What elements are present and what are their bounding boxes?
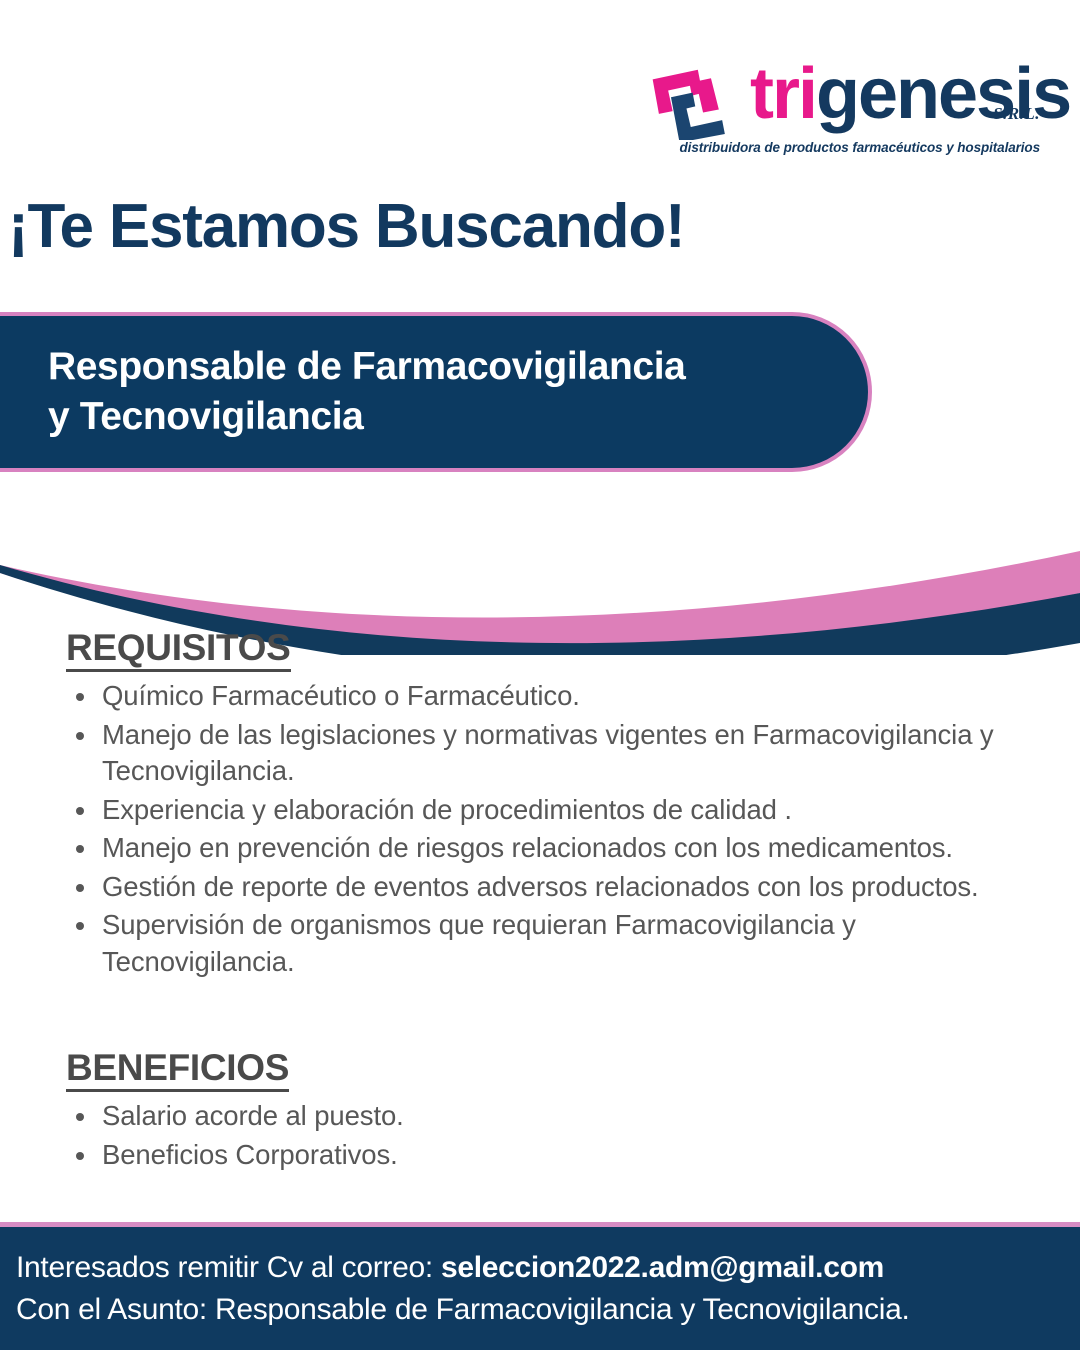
list-item: Salario acorde al puesto. bbox=[66, 1098, 1050, 1135]
job-title-text: Responsable de Farmacovigilancia y Tecno… bbox=[0, 342, 745, 442]
list-item: Experiencia y elaboración de procedimien… bbox=[66, 792, 1050, 829]
section-beneficios: BENEFICIOS Salario acorde al puesto. Ben… bbox=[0, 1048, 1080, 1173]
logo-srl-suffix: S.R.L. bbox=[993, 104, 1040, 124]
page-title: ¡Te Estamos Buscando! bbox=[8, 196, 684, 258]
section-title-requisitos: REQUISITOS bbox=[66, 628, 291, 672]
company-logo: trigenesis S.R.L. distribuidora de produ… bbox=[646, 62, 1046, 167]
list-item: Químico Farmacéutico o Farmacéutico. bbox=[66, 678, 1050, 715]
list-item: Supervisión de organismos que requieran … bbox=[66, 907, 1050, 980]
section-spacer bbox=[0, 982, 1080, 1048]
list-item: Manejo de las legislaciones y normativas… bbox=[66, 717, 1050, 790]
logo-word-tri: tri bbox=[750, 54, 816, 134]
beneficios-list: Salario acorde al puesto. Beneficios Cor… bbox=[66, 1098, 1050, 1173]
list-item: Gestión de reporte de eventos adversos r… bbox=[66, 869, 1050, 906]
footer-instruction-text: Interesados remitir Cv al correo: bbox=[16, 1251, 441, 1284]
footer-line-2: Con el Asunto: Responsable de Farmacovig… bbox=[16, 1289, 1068, 1330]
contact-footer: Interesados remitir Cv al correo: selecc… bbox=[0, 1222, 1080, 1350]
job-title-line-2: y Tecnovigilancia bbox=[48, 395, 363, 438]
trigenesis-bracket-mark bbox=[652, 68, 744, 140]
content-body: REQUISITOS Químico Farmacéutico o Farmac… bbox=[0, 628, 1080, 1176]
list-item: Beneficios Corporativos. bbox=[66, 1137, 1050, 1174]
section-requisitos: REQUISITOS Químico Farmacéutico o Farmac… bbox=[0, 628, 1080, 980]
contact-email[interactable]: seleccion2022.adm@gmail.com bbox=[441, 1251, 884, 1284]
job-title-banner: Responsable de Farmacovigilancia y Tecno… bbox=[0, 312, 872, 472]
list-item: Manejo en prevención de riesgos relacion… bbox=[66, 830, 1050, 867]
job-title-line-1: Responsable de Farmacovigilancia bbox=[48, 345, 685, 388]
requisitos-list: Químico Farmacéutico o Farmacéutico. Man… bbox=[66, 678, 1050, 981]
section-title-beneficios: BENEFICIOS bbox=[66, 1048, 289, 1092]
logo-tagline: distribuidora de productos farmacéuticos… bbox=[680, 140, 1040, 155]
footer-line-1: Interesados remitir Cv al correo: selecc… bbox=[16, 1247, 1068, 1288]
